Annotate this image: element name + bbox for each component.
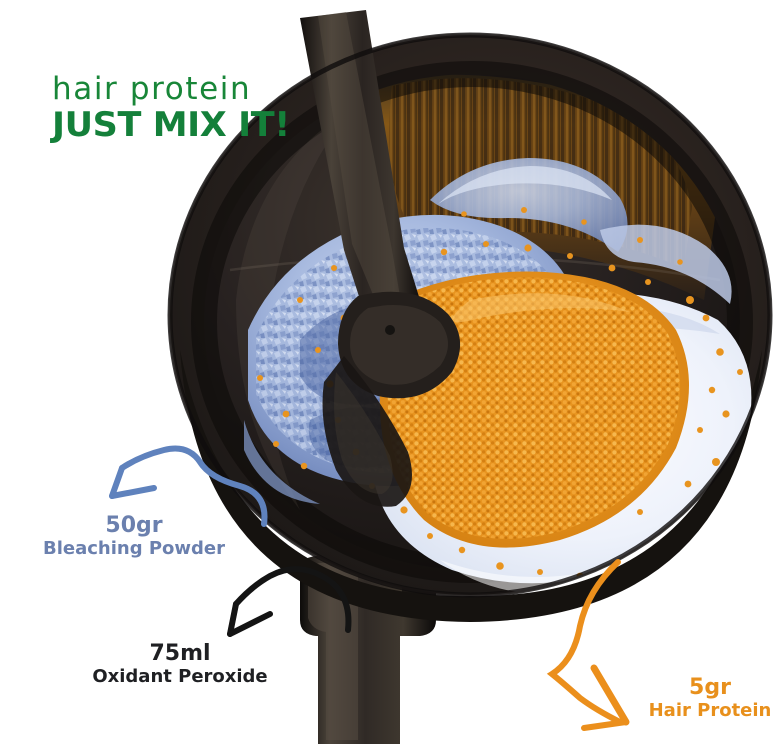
callout-hair-protein: 5gr Hair Protein	[640, 676, 780, 721]
headline-line-2: JUST MIX IT!	[52, 108, 290, 142]
callout-amount: 50gr	[34, 514, 234, 539]
bowl-interior	[204, 74, 751, 595]
arrow-oxidant-peroxide	[196, 552, 356, 647]
headline-block: hair protein JUST MIX IT!	[52, 74, 283, 142]
callout-oxidant-peroxide: 75ml Oxidant Peroxide	[86, 642, 274, 687]
callout-amount: 5gr	[640, 676, 780, 701]
headline-line-1: hair protein	[52, 74, 283, 105]
callout-bleaching-powder: 50gr Bleaching Powder	[34, 514, 234, 559]
callout-amount: 75ml	[86, 642, 274, 667]
poster-canvas: hair protein JUST MIX IT! 50gr Bleaching…	[0, 0, 784, 744]
callout-name: Hair Protein	[640, 701, 780, 721]
callout-name: Oxidant Peroxide	[86, 667, 274, 687]
callout-name: Bleaching Powder	[34, 539, 234, 559]
